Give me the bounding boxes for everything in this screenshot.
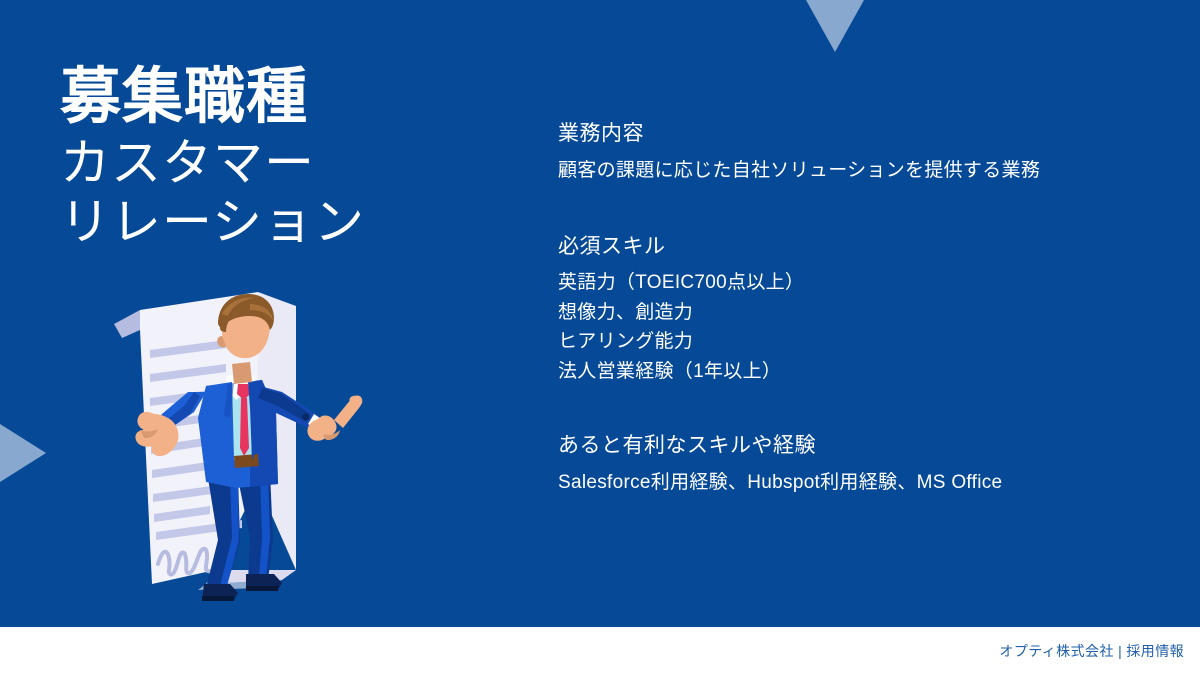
section-required-skills: 必須スキル 英語力（TOEIC700点以上） 想像力、創造力 ヒアリング能力 法… — [558, 231, 1158, 386]
list-item: 顧客の課題に応じた自社ソリューションを提供する業務 — [558, 156, 1158, 185]
businessman-contract-illustration — [110, 288, 380, 613]
section-preferred-skills: あると有利なスキルや経験 Salesforce利用経験、Hubspot利用経験、… — [558, 430, 1158, 497]
footer-bar: オプティ株式会社 | 採用情報 — [0, 627, 1200, 675]
list-item: Salesforce利用経験、Hubspot利用経験、MS Office — [558, 468, 1158, 497]
slide-root: 募集職種 カスタマー リレーション — [0, 0, 1200, 675]
page-subtitle-line1: カスタマー — [60, 134, 500, 193]
title-block: 募集職種 カスタマー リレーション — [60, 62, 500, 252]
triangle-right-icon — [0, 424, 46, 482]
page-title: 募集職種 — [60, 62, 500, 130]
section-required-skills-list: 英語力（TOEIC700点以上） 想像力、創造力 ヒアリング能力 法人営業経験（… — [558, 268, 1158, 386]
section-duties-list: 顧客の課題に応じた自社ソリューションを提供する業務 — [558, 156, 1158, 185]
content-column: 業務内容 顧客の課題に応じた自社ソリューションを提供する業務 必須スキル 英語力… — [558, 118, 1158, 497]
list-item: ヒアリング能力 — [558, 327, 1158, 356]
section-preferred-skills-list: Salesforce利用経験、Hubspot利用経験、MS Office — [558, 468, 1158, 497]
list-item: 英語力（TOEIC700点以上） — [558, 268, 1158, 297]
triangle-down-icon — [806, 0, 864, 52]
section-duties-heading: 業務内容 — [558, 118, 1158, 150]
page-subtitle-line2: リレーション — [60, 193, 500, 252]
section-required-skills-heading: 必須スキル — [558, 231, 1158, 263]
list-item: 法人営業経験（1年以上） — [558, 357, 1158, 386]
footer-company-label: オプティ株式会社 | 採用情報 — [999, 641, 1184, 661]
section-preferred-skills-heading: あると有利なスキルや経験 — [558, 430, 1158, 462]
list-item: 想像力、創造力 — [558, 298, 1158, 327]
section-duties: 業務内容 顧客の課題に応じた自社ソリューションを提供する業務 — [558, 118, 1158, 185]
